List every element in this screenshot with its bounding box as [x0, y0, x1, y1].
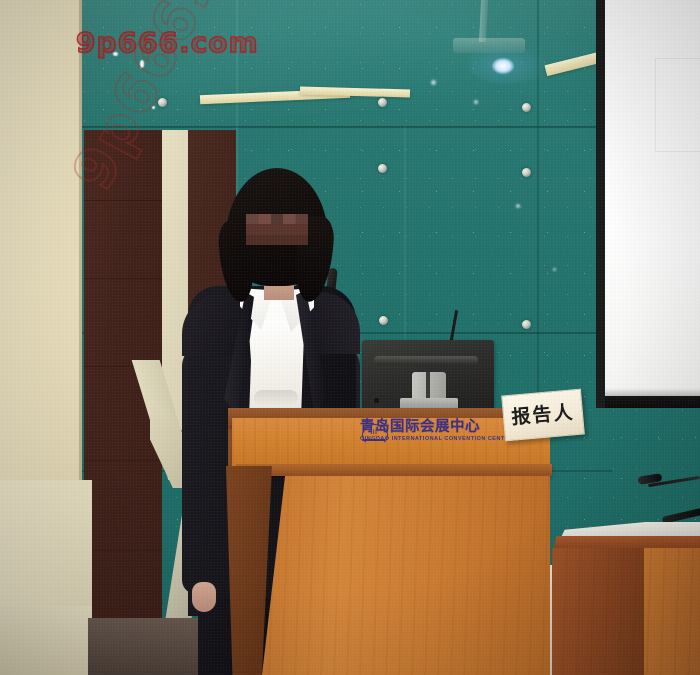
side-table-grain — [552, 548, 700, 675]
glass-stud-fastener — [378, 98, 387, 107]
face-censor-bar — [246, 214, 308, 245]
projection-screen-shadow — [605, 388, 700, 408]
glass-highlight — [140, 60, 144, 68]
glass-stud-fastener — [378, 164, 387, 173]
glass-stud-fastener — [158, 98, 167, 107]
glass-highlight — [553, 268, 556, 271]
glass-highlight — [152, 106, 155, 109]
speaker-hand-left — [192, 582, 216, 612]
speaker-scarf-fold — [254, 390, 298, 406]
projector-lamp-glow — [492, 58, 514, 74]
glass-stud-fastener — [522, 320, 531, 329]
projection-screen-faint-edge — [655, 58, 700, 152]
glass-highlight — [516, 204, 520, 208]
glass-stud-fastener — [379, 316, 388, 325]
monitor-indicator-dot — [374, 398, 379, 403]
monitor-vent — [374, 356, 478, 365]
glass-stud-fastener — [522, 103, 531, 112]
top-watermark: 9p666.com — [76, 26, 259, 59]
ceiling-projector-reflection — [453, 38, 525, 53]
beige-wall-base — [0, 606, 92, 675]
glass-highlight — [431, 80, 436, 85]
glass-highlight — [474, 100, 478, 104]
podium-lip — [236, 464, 552, 476]
glass-stud-fastener — [522, 168, 531, 177]
speaker-name-card: 报告人 — [501, 389, 585, 442]
photo-scene: ⅠⅠⅠ 青岛国际会展中心 QINGDAO INTERNATIONAL CONVE… — [0, 0, 700, 675]
podium-column-grain — [262, 476, 550, 675]
speaker-name-card-text: 报告人 — [503, 397, 583, 431]
